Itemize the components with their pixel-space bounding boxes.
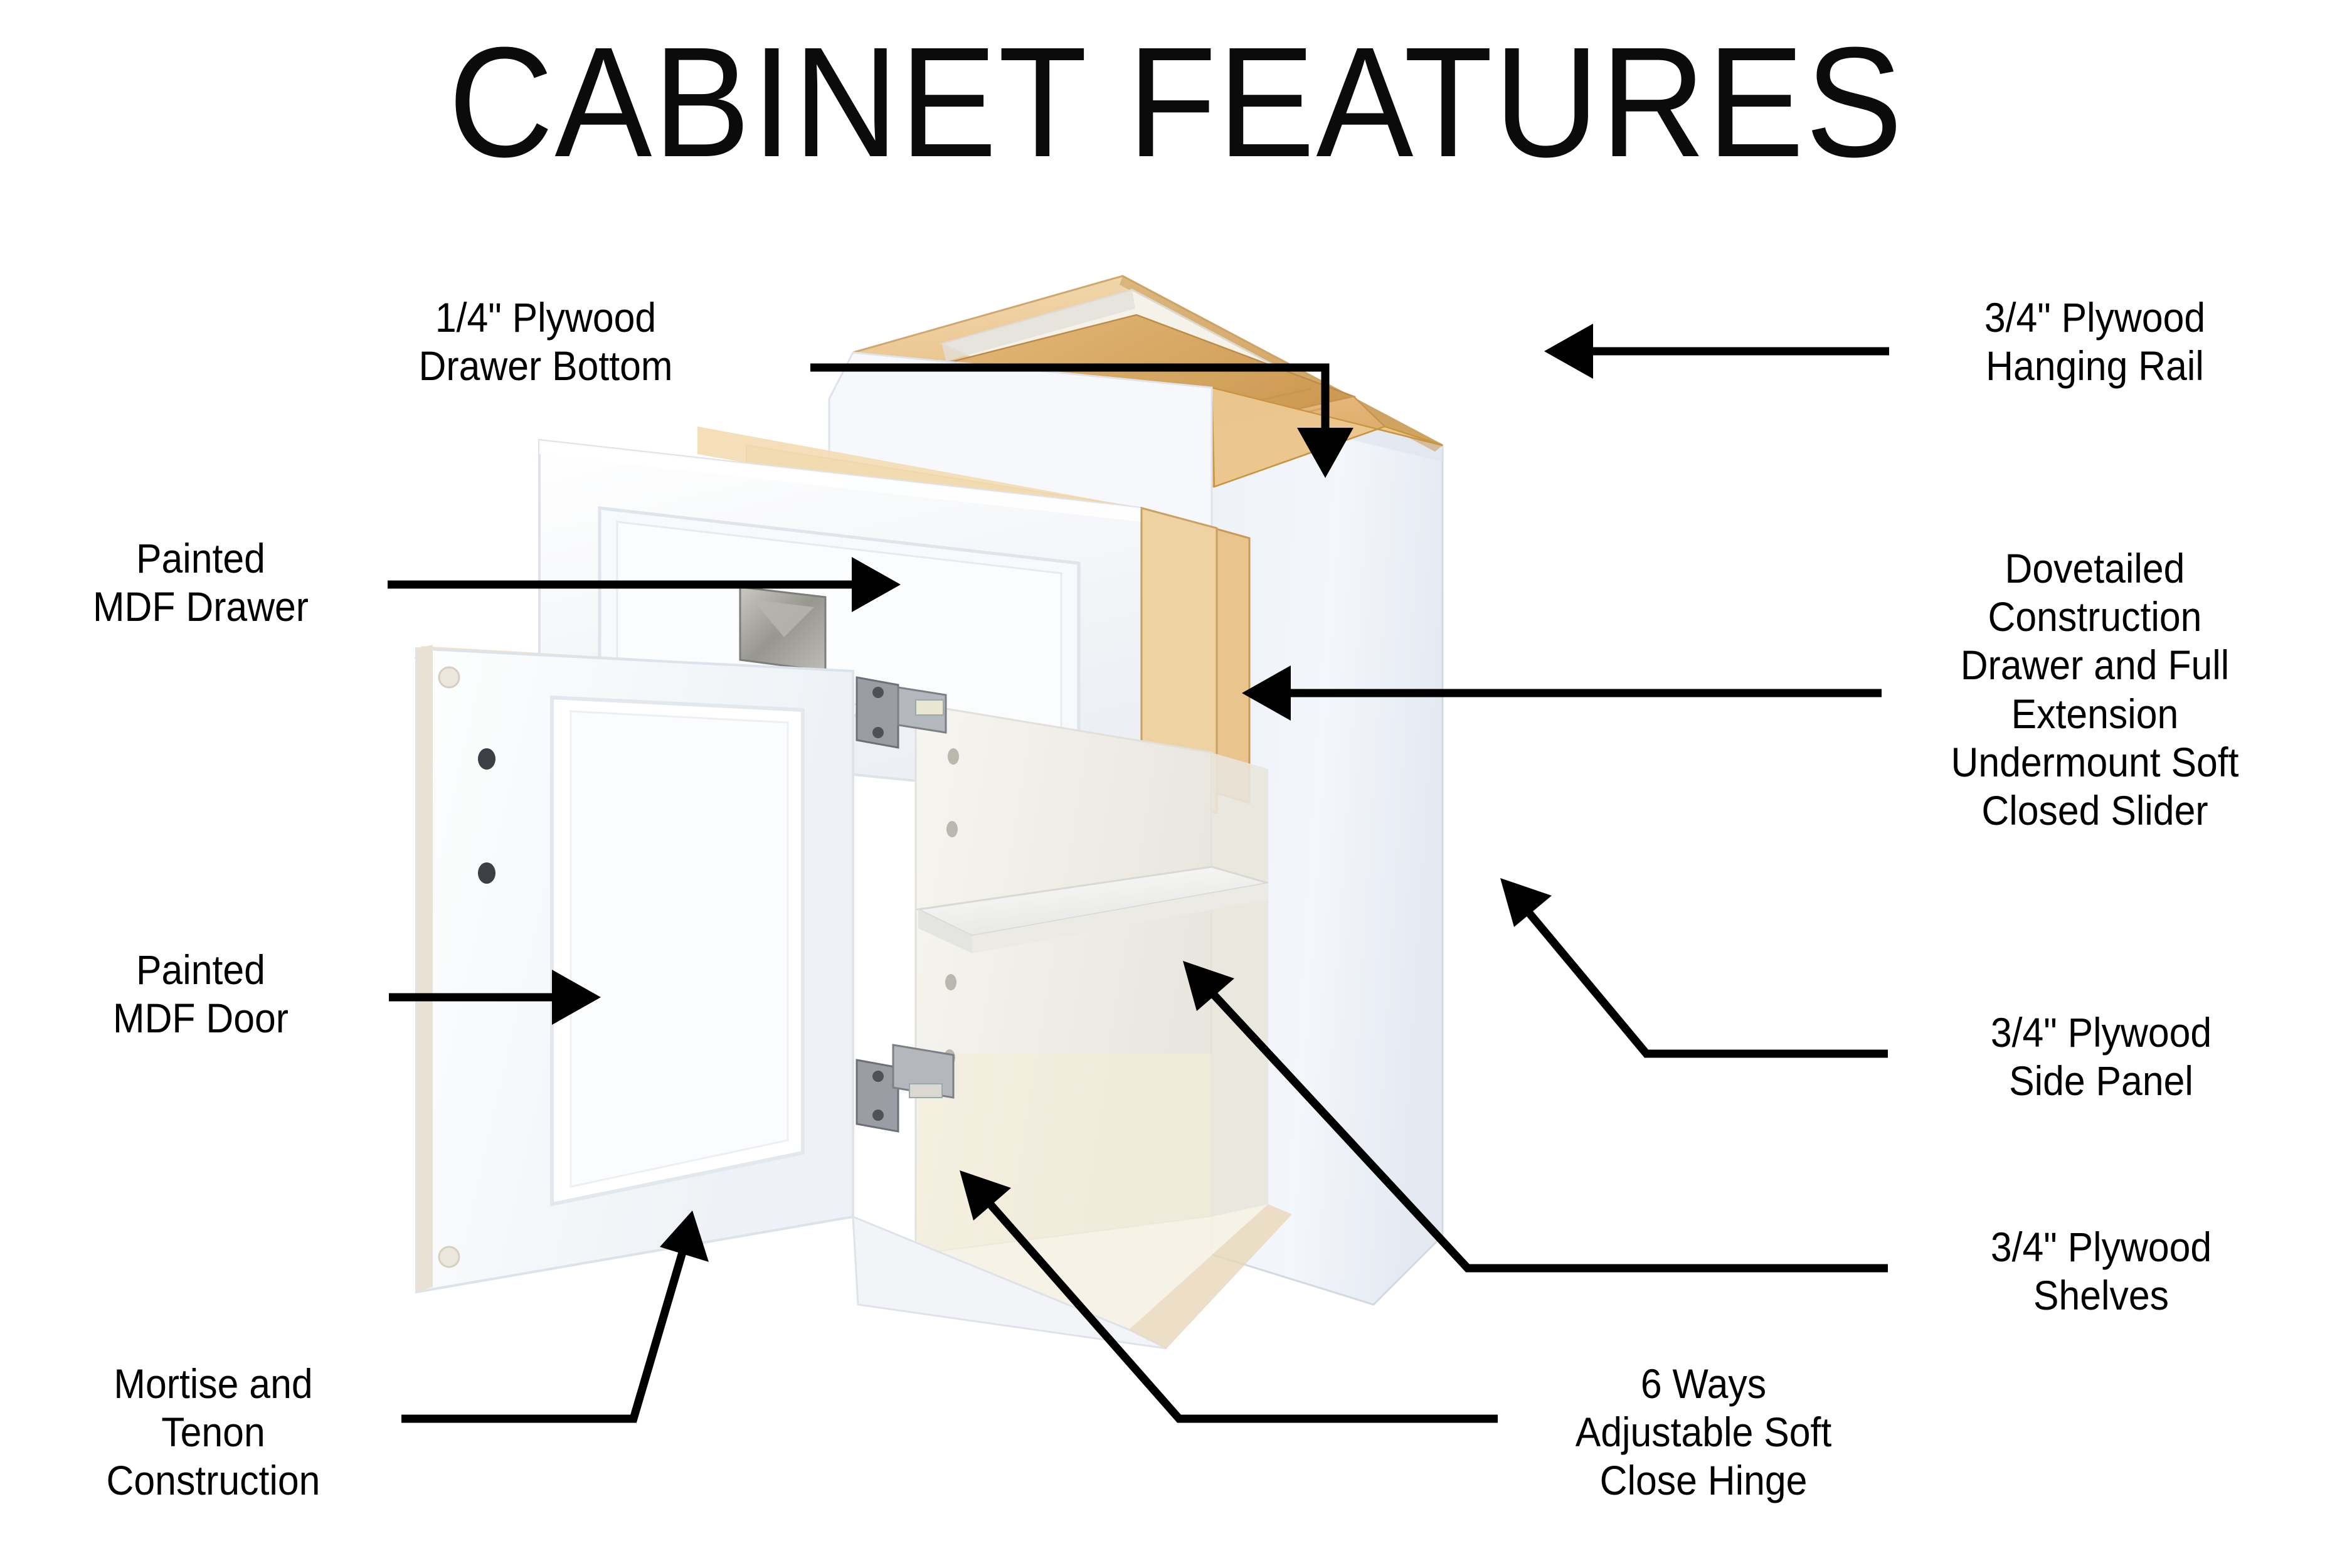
door-shaker-panel bbox=[552, 697, 803, 1204]
diagram-canvas: CABINET FEATURES bbox=[0, 0, 2352, 1568]
drawer-knob bbox=[740, 587, 825, 671]
label-mortise-tenon-construction: Mortise and Tenon Construction bbox=[51, 1360, 374, 1505]
open-door bbox=[414, 645, 853, 1292]
page-title: CABINET FEATURES bbox=[82, 24, 2270, 181]
label-plywood-shelves: 3/4" Plywood Shelves bbox=[1922, 1223, 2280, 1320]
label-painted-mdf-drawer: Painted MDF Drawer bbox=[51, 534, 351, 631]
label-plywood-drawer-bottom: 1/4" Plywood Drawer Bottom bbox=[367, 294, 724, 390]
cabinet-illustration bbox=[477, 238, 1769, 1455]
cabinet-interior bbox=[916, 704, 1268, 1330]
label-plywood-hanging-rail: 3/4" Plywood Hanging Rail bbox=[1916, 294, 2274, 390]
label-painted-mdf-door: Painted MDF Door bbox=[51, 946, 351, 1042]
label-plywood-side-panel: 3/4" Plywood Side Panel bbox=[1922, 1009, 2280, 1105]
label-dovetailed-construction: Dovetailed Construction Drawer and Full … bbox=[1904, 544, 2285, 835]
label-adjustable-soft-close-hinge: 6 Ways Adjustable Soft Close Hinge bbox=[1519, 1360, 1888, 1505]
